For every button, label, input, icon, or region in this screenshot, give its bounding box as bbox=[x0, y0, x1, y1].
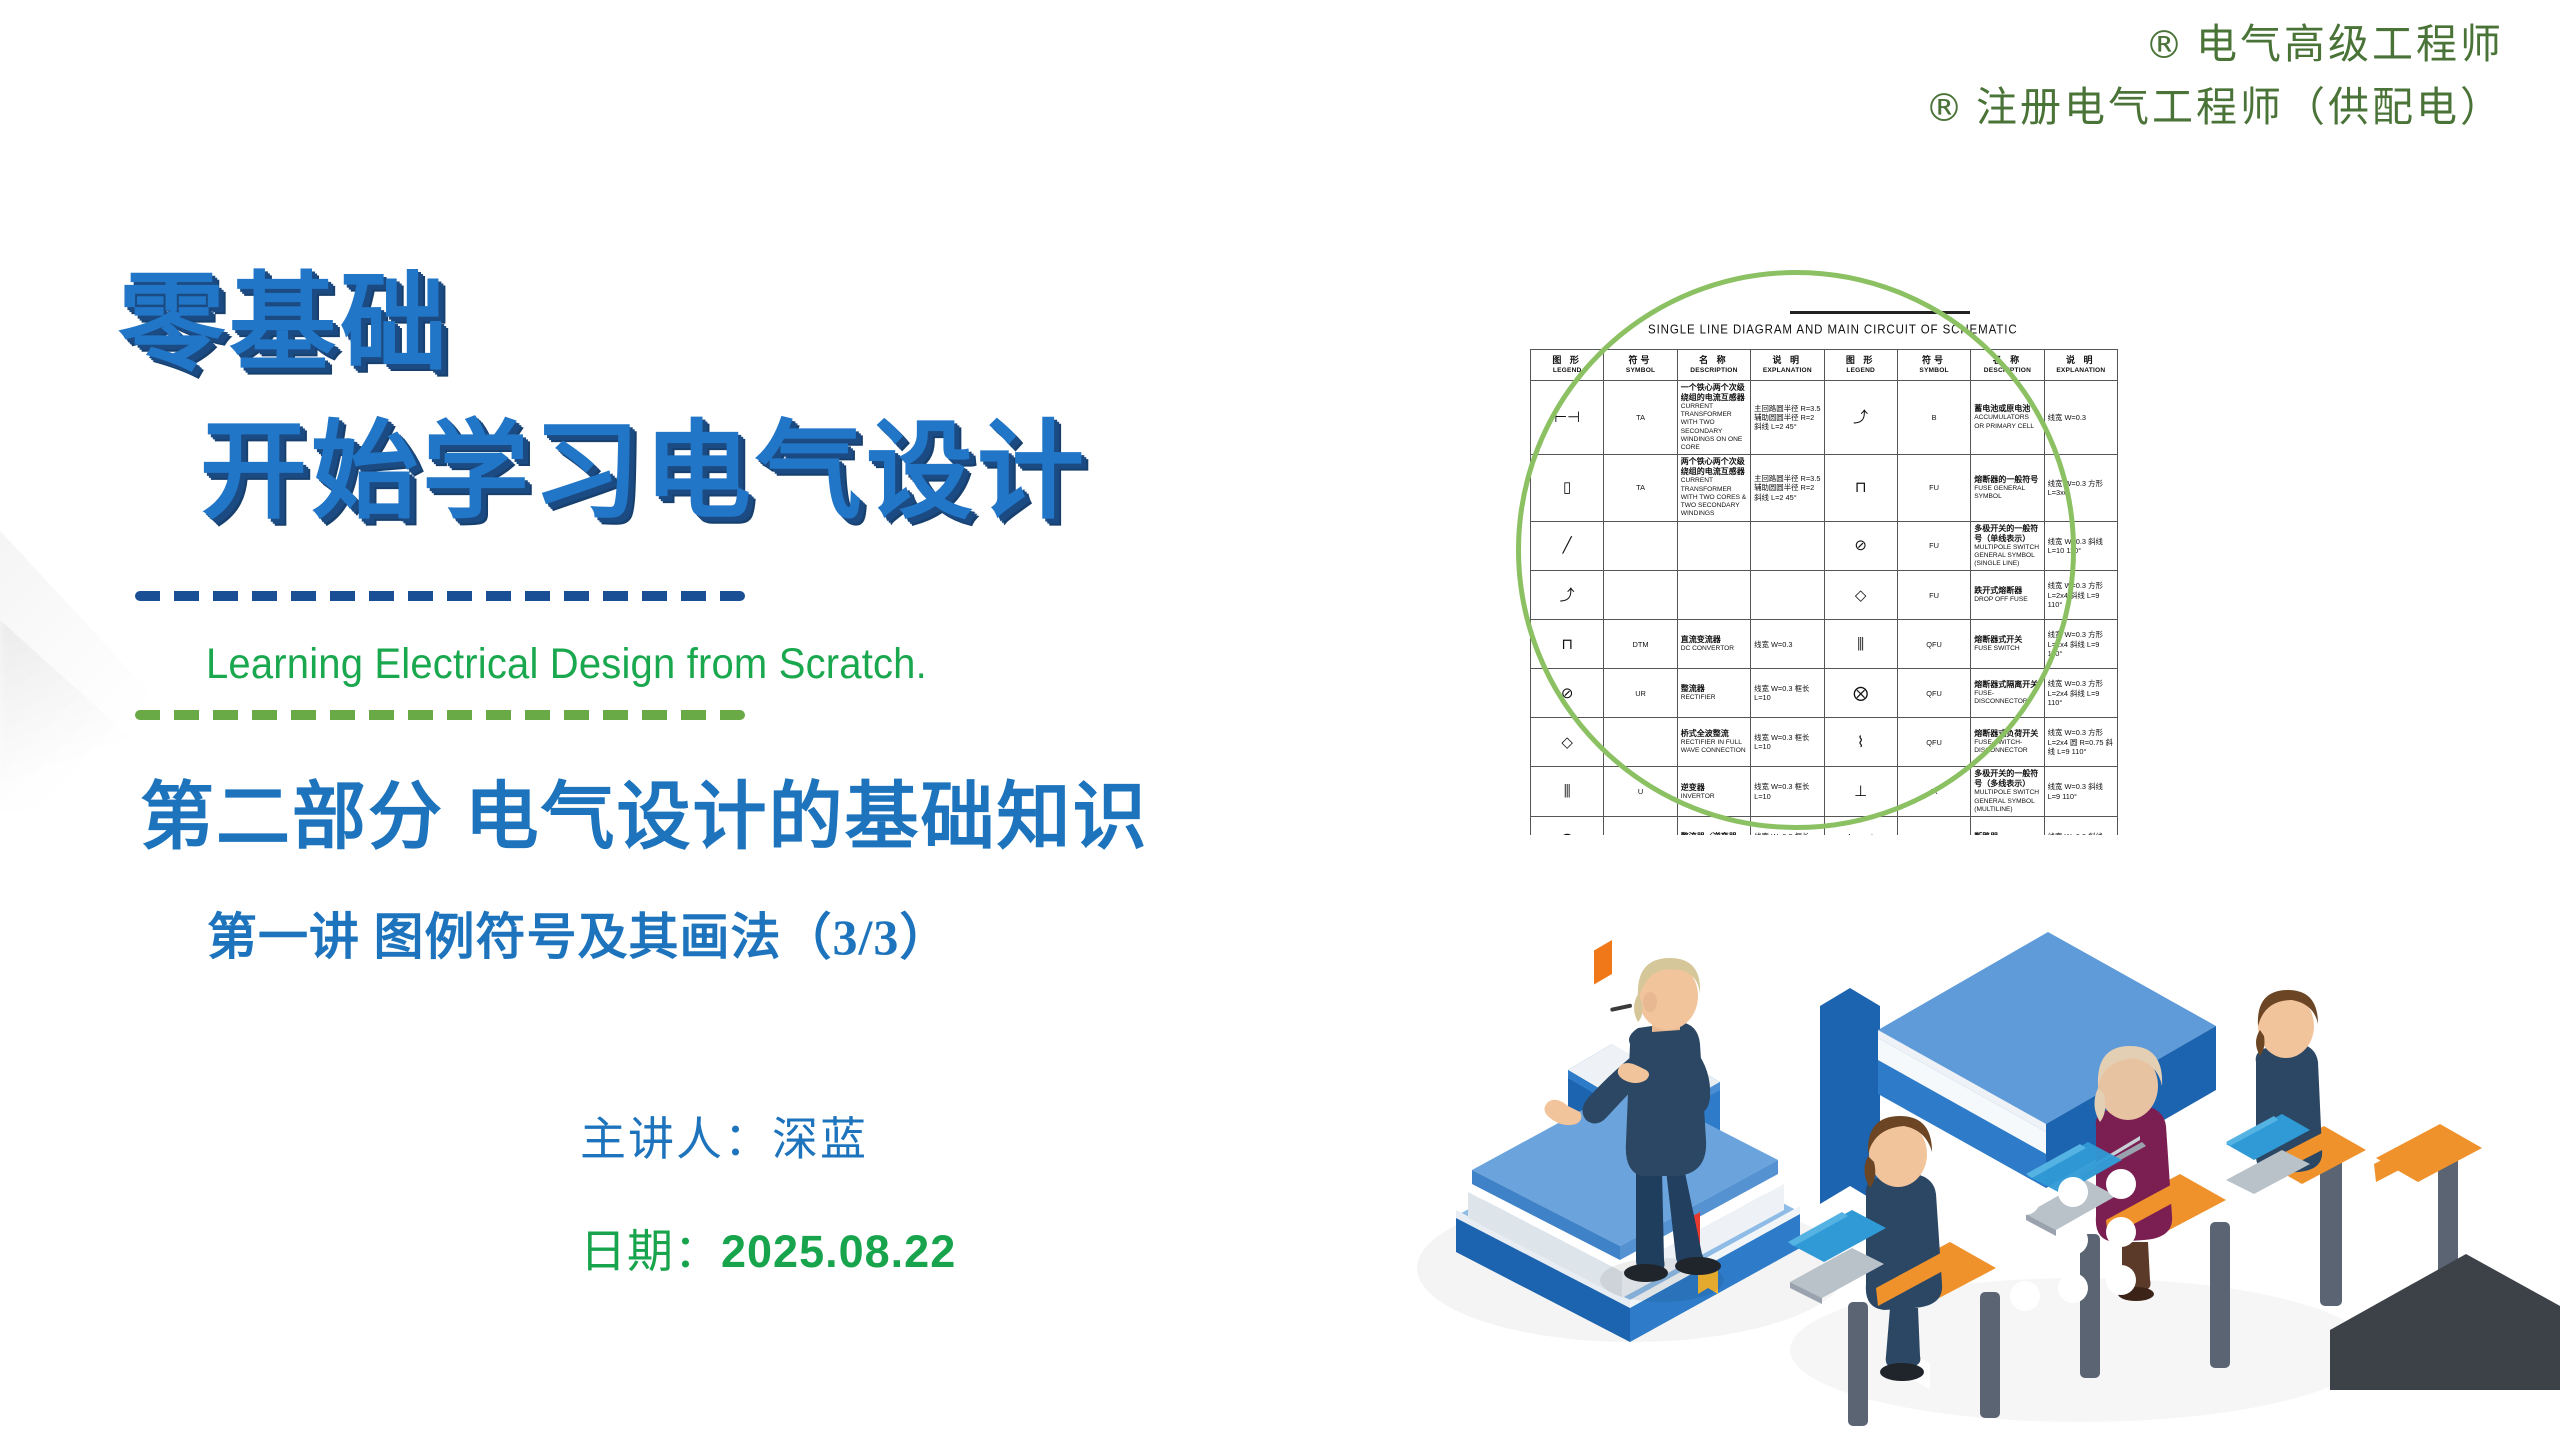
cell-name-right: 熔断器的一般符号FUSE GENERAL SYMBOL bbox=[1971, 455, 2044, 521]
table-row: ⊓DTM直流变流器DC CONVERTOR线宽 W=0.3⫼QFU熔断器式开关F… bbox=[1531, 620, 2118, 669]
credentials-block: ®电气高级工程师 ®注册电气工程师（供配电） bbox=[1925, 24, 2504, 150]
cell-expl-right: 线宽 W=0.3 斜线 L=10 110° bbox=[2044, 521, 2117, 571]
table-row: ⨂U整流器／逆变器RECTIFIER/INVERTER线宽 W=0.3 框长 L… bbox=[1531, 816, 2118, 835]
cell-expl-left: 线宽 W=0.3 bbox=[1751, 620, 1824, 669]
cell-name-left: 一个铁心两个次级绕组的电流互感器CURRENT TRANSFORMER WITH… bbox=[1677, 381, 1750, 455]
cell-name-right: 断路器CIRCUIT BREAKER bbox=[1971, 816, 2044, 835]
cell-expl-left: 线宽 W=0.3 框长 L=10 bbox=[1751, 718, 1824, 767]
cell-name-right: 跌开式熔断器DROP OFF FUSE bbox=[1971, 571, 2044, 620]
th-en: EXPLANATION bbox=[1754, 367, 1820, 375]
table-row: ◇桥式全波整流RECTIFIER IN FULL WAVE CONNECTION… bbox=[1531, 718, 2118, 767]
circuit-symbol-icon: ⊢⊣ bbox=[1554, 410, 1580, 425]
cell-legend-left: ⊓ bbox=[1531, 620, 1604, 669]
cell-name-en: MULTIPOLE SWITCH GENERAL SYMBOL (SINGLE … bbox=[1974, 544, 2040, 569]
cell-name-cn: 多极开关的一般符号（单线表示） bbox=[1974, 524, 2040, 544]
cell-legend-right: ⊥ bbox=[1824, 767, 1897, 817]
schematic-figure: SINGLE LINE DIAGRAM AND MAIN CIRCUIT OF … bbox=[1490, 270, 2110, 890]
cell-name-cn: 熔断器的一般符号 bbox=[1974, 475, 2040, 485]
part-title: 第二部分 电气设计的基础知识 bbox=[140, 781, 1149, 855]
cell-name-left: 直流变流器DC CONVERTOR bbox=[1677, 620, 1750, 669]
cell-symbol-left: U bbox=[1604, 816, 1677, 835]
th-cn: 符号 bbox=[1901, 355, 1967, 366]
symbol-table-body: ⊢⊣TA一个铁心两个次级绕组的电流互感器CURRENT TRANSFORMER … bbox=[1531, 381, 2118, 836]
th-en: DESCRIPTION bbox=[1974, 367, 2040, 375]
cell-symbol-right: FU bbox=[1897, 521, 1970, 571]
cell-name-en: DROP OFF FUSE bbox=[1974, 596, 2040, 604]
cell-symbol-right: QFU bbox=[1897, 718, 1970, 767]
cell-name-cn: 熔断器式负荷开关 bbox=[1974, 729, 2040, 739]
cell-name-en: RECTIFIER bbox=[1681, 694, 1747, 702]
cell-symbol-right: FU bbox=[1897, 455, 1970, 521]
cell-name-cn: 熔断器式开关 bbox=[1974, 635, 2040, 645]
circuit-symbol-icon: ⌇ bbox=[1857, 735, 1864, 750]
th-expl-1: 说 明 EXPLANATION bbox=[1751, 350, 1824, 381]
circuit-symbol-icon: ⊘ bbox=[1561, 686, 1574, 701]
cell-legend-left: ╱ bbox=[1531, 521, 1604, 571]
lecture-title: 第一讲 图例符号及其画法（3/3） bbox=[207, 912, 950, 962]
cell-name-left: 两个铁心两个次级绕组的电流互感器CURRENT TRANSFORMER WITH… bbox=[1677, 455, 1750, 521]
circuit-symbol-icon: ⫼ bbox=[1857, 637, 1864, 652]
cell-name-right: 蓄电池或原电池ACCUMULATORS OR PRIMARY CELL bbox=[1971, 381, 2044, 455]
registered-mark-icon-2: ® bbox=[1925, 86, 1966, 130]
th-en: LEGEND bbox=[1828, 367, 1894, 375]
schematic-sheet: SINGLE LINE DIAGRAM AND MAIN CIRCUIT OF … bbox=[1490, 305, 2120, 835]
presenter-name: 深蓝 bbox=[772, 1114, 868, 1165]
cell-name-en: FUSE GENERAL SYMBOL bbox=[1974, 485, 2040, 501]
th-name-2: 名 称 DESCRIPTION bbox=[1971, 350, 2044, 381]
circuit-symbol-icon: ⨂ bbox=[1853, 686, 1868, 701]
circuit-symbol-icon: ⊥ bbox=[1854, 784, 1867, 799]
circuit-symbol-icon: ⤴ bbox=[1853, 410, 1868, 425]
cell-symbol-left: DTM bbox=[1604, 620, 1677, 669]
table-row: ╱⊘FU多极开关的一般符号（单线表示）MULTIPOLE SWITCH GENE… bbox=[1531, 521, 2118, 571]
th-cn: 符号 bbox=[1607, 355, 1673, 366]
th-expl-2: 说 明 EXPLANATION bbox=[2044, 350, 2117, 381]
th-cn: 名 称 bbox=[1681, 355, 1747, 366]
cell-symbol-right: QFU bbox=[1897, 669, 1970, 718]
circuit-symbol-icon: ◇ bbox=[1855, 588, 1867, 603]
cell-name-left: 逆变器INVERTOR bbox=[1677, 767, 1750, 817]
grid-dot bbox=[2010, 1233, 2040, 1263]
cell-symbol-left: U bbox=[1604, 767, 1677, 817]
presenter-label: 主讲人： bbox=[580, 1114, 772, 1165]
th-cn: 图 形 bbox=[1534, 355, 1600, 366]
table-row: ⫼U逆变器INVERTOR线宽 W=0.3 框长 L=10⊥IR多极开关的一般符… bbox=[1531, 767, 2118, 817]
cell-symbol-left: TA bbox=[1604, 381, 1677, 455]
slide-canvas: ®电气高级工程师 ®注册电气工程师（供配电） 零基础 开始学习电气设计 Lear… bbox=[0, 0, 2560, 1440]
cell-legend-right: ⨂ bbox=[1824, 669, 1897, 718]
cell-legend-left: ⊘ bbox=[1531, 669, 1604, 718]
cell-legend-left: ⤴ bbox=[1531, 571, 1604, 620]
cell-legend-left: ◇ bbox=[1531, 718, 1604, 767]
cell-name-cn: 直流变流器 bbox=[1681, 635, 1747, 645]
circuit-symbol-icon: ╱ bbox=[1563, 538, 1572, 553]
cell-symbol-right: QF bbox=[1897, 816, 1970, 835]
cell-legend-right: ⊢⊣ bbox=[1824, 816, 1897, 835]
cell-symbol-right: FU bbox=[1897, 571, 1970, 620]
cell-name-en: MULTIPOLE SWITCH GENERAL SYMBOL (MULTILI… bbox=[1974, 789, 2040, 814]
cell-name-cn: 蓄电池或原电池 bbox=[1974, 404, 2040, 414]
th-symbol-2: 符号 SYMBOL bbox=[1897, 350, 1970, 381]
cell-name-cn: 跌开式熔断器 bbox=[1974, 586, 2040, 596]
table-row: ⤴◇FU跌开式熔断器DROP OFF FUSE线宽 W=0.3 方形 L=2x4… bbox=[1531, 571, 2118, 620]
cell-name-cn: 桥式全波整流 bbox=[1681, 729, 1747, 739]
th-en: EXPLANATION bbox=[2048, 367, 2114, 375]
th-symbol-1: 符号 SYMBOL bbox=[1604, 350, 1677, 381]
credential-text-2: 注册电气工程师（供配电） bbox=[1976, 84, 2504, 130]
sheet-caption: SINGLE LINE DIAGRAM AND MAIN CIRCUIT OF … bbox=[1648, 323, 2018, 337]
th-cn: 名 称 bbox=[1974, 355, 2040, 366]
th-en: SYMBOL bbox=[1607, 367, 1673, 375]
table-header-row: 图 形 LEGEND 符号 SYMBOL 名 称 DESCRIPTION 说 bbox=[1531, 350, 2118, 381]
cell-expl-right: 线宽 W=0.3 斜线 L=9 110° bbox=[2044, 816, 2117, 835]
cell-name-cn: 整流器 bbox=[1681, 684, 1747, 694]
cell-name-en: ACCUMULATORS OR PRIMARY CELL bbox=[1974, 414, 2040, 430]
cell-legend-right: ⊓ bbox=[1824, 455, 1897, 521]
date-line: 日期：2025.08.22 bbox=[580, 1215, 956, 1281]
grid-dot bbox=[2058, 1225, 2088, 1255]
credential-text-1: 电气高级工程师 bbox=[2196, 21, 2504, 67]
cell-name-left: 整流器／逆变器RECTIFIER/INVERTER bbox=[1677, 816, 1750, 835]
grid-dot bbox=[2010, 1185, 2040, 1215]
cell-name-cn: 两个铁心两个次级绕组的电流互感器 bbox=[1681, 457, 1747, 477]
symbol-legend-table: 图 形 LEGEND 符号 SYMBOL 名 称 DESCRIPTION 说 bbox=[1530, 349, 2118, 835]
circuit-symbol-icon: ▯ bbox=[1563, 480, 1571, 495]
cell-name-en: DC CONVERTOR bbox=[1681, 645, 1747, 653]
cell-legend-right: ⊘ bbox=[1824, 521, 1897, 571]
grid-dot bbox=[2106, 1217, 2136, 1247]
cell-expl-right: 线宽 W=0.3 方形 L=3x6 bbox=[2044, 455, 2117, 521]
cell-name-en: FUSE-DISCONNECTOR bbox=[1974, 690, 2040, 706]
circuit-symbol-icon: ⤴ bbox=[1560, 588, 1575, 603]
pen-mark bbox=[1610, 1003, 1632, 1011]
cell-expl-left: 线宽 W=0.3 框长 L=10 bbox=[1751, 767, 1824, 817]
cell-expl-right: 线宽 W=0.3 斜线 L=9 110° bbox=[2044, 767, 2117, 817]
divider-dashed-blue bbox=[135, 591, 745, 601]
cell-name-cn: 断路器 bbox=[1974, 832, 2040, 835]
cell-symbol-right: B bbox=[1897, 381, 1970, 455]
cell-name-right: 多极开关的一般符号（单线表示）MULTIPOLE SWITCH GENERAL … bbox=[1971, 521, 2044, 571]
cell-legend-right: ◇ bbox=[1824, 571, 1897, 620]
cell-expl-right: 线宽 W=0.3 方形 L=2x4 圆 R=0.75 斜线 L=9 110° bbox=[2044, 718, 2117, 767]
cell-name-right: 多极开关的一般符号（多线表示）MULTIPOLE SWITCH GENERAL … bbox=[1971, 767, 2044, 817]
english-subtitle: Learning Electrical Design from Scratch. bbox=[206, 640, 927, 689]
cell-name-cn: 整流器／逆变器 bbox=[1681, 832, 1747, 835]
cell-legend-left: ⨂ bbox=[1531, 816, 1604, 835]
cell-symbol-right: IR bbox=[1897, 767, 1970, 817]
th-legend-2: 图 形 LEGEND bbox=[1824, 350, 1897, 381]
grid-dot bbox=[2058, 1177, 2088, 1207]
date-value: 2025.08.22 bbox=[721, 1226, 956, 1277]
th-cn: 说 明 bbox=[2048, 355, 2114, 366]
table-row: ▯TA两个铁心两个次级绕组的电流互感器CURRENT TRANSFORMER W… bbox=[1531, 455, 2118, 521]
credential-line-2: ®注册电气工程师（供配电） bbox=[1925, 87, 2504, 128]
table-row: ⊘UR整流器RECTIFIER线宽 W=0.3 框长 L=10⨂QFU熔断器式隔… bbox=[1531, 669, 2118, 718]
cell-expl-left bbox=[1751, 571, 1824, 620]
cell-legend-right: ⫼ bbox=[1824, 620, 1897, 669]
cell-name-en: RECTIFIER IN FULL WAVE CONNECTION bbox=[1681, 739, 1747, 755]
cell-name-left bbox=[1677, 571, 1750, 620]
main-title-line-1: 零基础 bbox=[118, 272, 451, 379]
cell-name-right: 熔断器式隔离开关FUSE-DISCONNECTOR bbox=[1971, 669, 2044, 718]
grid-dot bbox=[2106, 1169, 2136, 1199]
circuit-symbol-icon: ⨂ bbox=[1560, 833, 1575, 835]
cell-symbol-right: QFU bbox=[1897, 620, 1970, 669]
cell-expl-right: 线宽 W=0.3 方形 L=2x4 斜线 L=9 110° bbox=[2044, 571, 2117, 620]
cell-name-cn: 多极开关的一般符号（多线表示） bbox=[1974, 769, 2040, 789]
credential-line-1: ®电气高级工程师 bbox=[1925, 24, 2504, 65]
cell-name-cn: 一个铁心两个次级绕组的电流互感器 bbox=[1681, 383, 1747, 403]
presenter-line: 主讲人：深蓝 bbox=[580, 1103, 868, 1169]
divider-dashed-green bbox=[135, 710, 745, 720]
th-name-1: 名 称 DESCRIPTION bbox=[1677, 350, 1750, 381]
cell-legend-left: ⊢⊣ bbox=[1531, 381, 1604, 455]
cell-symbol-left: UR bbox=[1604, 669, 1677, 718]
cell-symbol-left bbox=[1604, 521, 1677, 571]
cell-name-en: FUSE SWITCH bbox=[1974, 645, 2040, 653]
th-cn: 说 明 bbox=[1754, 355, 1820, 366]
cell-name-left bbox=[1677, 521, 1750, 571]
circuit-symbol-icon: ⫼ bbox=[1564, 784, 1571, 799]
cell-name-right: 熔断器式开关FUSE SWITCH bbox=[1971, 620, 2044, 669]
cell-expl-right: 线宽 W=0.3 方形 L=2x4 斜线 L=9 110° bbox=[2044, 669, 2117, 718]
circuit-symbol-icon: ⊓ bbox=[1561, 637, 1573, 652]
cell-symbol-left bbox=[1604, 571, 1677, 620]
circuit-symbol-icon: ◇ bbox=[1561, 735, 1573, 750]
grid-dot bbox=[2106, 1265, 2136, 1295]
cell-symbol-left bbox=[1604, 718, 1677, 767]
th-en: DESCRIPTION bbox=[1681, 367, 1747, 375]
cell-expl-left: 主回路圆半径 R=3.5 辅助圆圆半径 R=2 斜线 L=2 45° bbox=[1751, 381, 1824, 455]
cell-expl-right: 线宽 W=0.3 bbox=[2044, 381, 2117, 455]
circuit-symbol-icon: ⊢⊣ bbox=[1848, 833, 1874, 835]
registered-mark-icon: ® bbox=[2145, 23, 2186, 67]
cell-expl-left: 线宽 W=0.3 框长 L=10 bbox=[1751, 816, 1824, 835]
th-cn: 图 形 bbox=[1828, 355, 1894, 366]
cell-expl-right: 线宽 W=0.3 方形 L=2x4 斜线 L=9 110° bbox=[2044, 620, 2117, 669]
cell-name-en: INVERTOR bbox=[1681, 793, 1747, 801]
cell-name-en: CURRENT TRANSFORMER WITH TWO CORES & TWO… bbox=[1681, 477, 1747, 518]
cell-name-cn: 熔断器式隔离开关 bbox=[1974, 680, 2040, 690]
th-legend-1: 图 形 LEGEND bbox=[1531, 350, 1604, 381]
cell-legend-left: ▯ bbox=[1531, 455, 1604, 521]
cell-expl-left bbox=[1751, 521, 1824, 571]
circuit-symbol-icon: ⊓ bbox=[1855, 480, 1867, 495]
cell-name-en: CURRENT TRANSFORMER WITH TWO SECONDARY W… bbox=[1681, 403, 1747, 452]
cell-legend-left: ⫼ bbox=[1531, 767, 1604, 817]
table-row: ⊢⊣TA一个铁心两个次级绕组的电流互感器CURRENT TRANSFORMER … bbox=[1531, 381, 2118, 455]
cell-name-en: FUSE-SWITCH-DISCONNECTOR bbox=[1974, 739, 2040, 755]
circuit-symbol-icon: ⊘ bbox=[1854, 538, 1867, 553]
th-en: LEGEND bbox=[1534, 367, 1600, 375]
cell-name-left: 整流器RECTIFIER bbox=[1677, 669, 1750, 718]
cell-legend-right: ⌇ bbox=[1824, 718, 1897, 767]
date-label: 日期： bbox=[580, 1226, 721, 1277]
cell-symbol-left: TA bbox=[1604, 455, 1677, 521]
th-en: SYMBOL bbox=[1901, 367, 1967, 375]
grid-dot bbox=[2058, 1273, 2088, 1303]
cell-expl-left: 线宽 W=0.3 框长 L=10 bbox=[1751, 669, 1824, 718]
cell-name-right: 熔断器式负荷开关FUSE-SWITCH-DISCONNECTOR bbox=[1971, 718, 2044, 767]
cell-expl-left: 主回路圆半径 R=3.5 辅助圆圆半径 R=2 斜线 L=2 45° bbox=[1751, 455, 1824, 521]
cell-legend-right: ⤴ bbox=[1824, 381, 1897, 455]
grid-dot bbox=[2010, 1281, 2040, 1311]
cell-name-cn: 逆变器 bbox=[1681, 783, 1747, 793]
isometric-illustration bbox=[1380, 830, 2560, 1440]
sheet-top-rule bbox=[1790, 311, 1970, 314]
paper-curl-fold bbox=[0, 600, 200, 800]
main-title-line-2: 开始学习电气设计 bbox=[200, 420, 1088, 527]
cell-name-left: 桥式全波整流RECTIFIER IN FULL WAVE CONNECTION bbox=[1677, 718, 1750, 767]
